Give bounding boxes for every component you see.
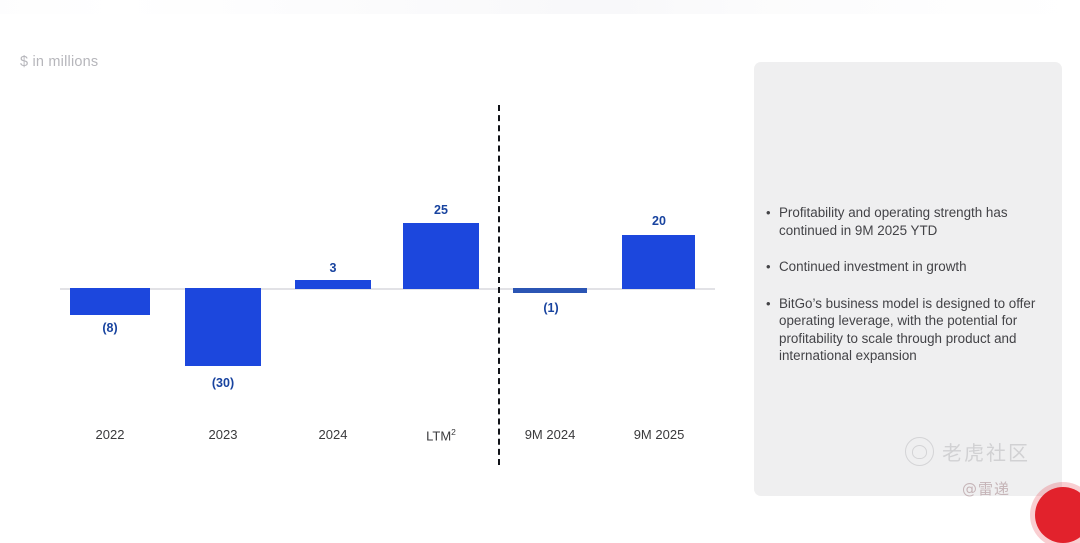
- red-badge-icon: [1035, 487, 1080, 543]
- commentary-bullet-list: • Profitability and operating strength h…: [766, 204, 1058, 384]
- watermark-handle: @雷递: [962, 478, 1010, 499]
- ltm-footnote-marker: 2: [451, 427, 456, 437]
- bullet-icon: •: [766, 295, 779, 365]
- bar-category-label-2023: 2023: [183, 427, 263, 442]
- category-text-ltm: LTM: [426, 428, 451, 443]
- bar-category-label-ltm: LTM2: [401, 427, 481, 443]
- bar-value-label-2024: 3: [293, 261, 373, 275]
- bullet-icon: •: [766, 258, 779, 276]
- list-item: • Profitability and operating strength h…: [766, 204, 1058, 239]
- bar-value-label-2022: (8): [70, 321, 150, 335]
- watermark: 老虎社区: [905, 437, 1030, 466]
- bar-category-label-9m-2025: 9M 2025: [619, 427, 699, 442]
- category-text-9m-2024: 9M 2024: [525, 427, 576, 442]
- bullet-icon: •: [766, 204, 779, 239]
- list-item: • Continued investment in growth: [766, 258, 1058, 276]
- bar-value-label-9m-2025: 20: [619, 214, 699, 228]
- bar-value-label-ltm: 25: [401, 203, 481, 217]
- category-text-9m-2025: 9M 2025: [634, 427, 685, 442]
- bar-9m-2025: [622, 235, 695, 289]
- bar-value-label-9m-2024: (1): [511, 301, 591, 315]
- category-text-2022: 2022: [96, 427, 125, 442]
- category-text-2024: 2024: [319, 427, 348, 442]
- list-item: • BitGo’s business model is designed to …: [766, 295, 1058, 365]
- bar-2023: [185, 288, 261, 366]
- bar-chart: (8) 2022 (30) 2023 3 2024 25 LTM2 (1) 9M…: [60, 95, 720, 465]
- bullet-text: Continued investment in growth: [779, 258, 1058, 276]
- watermark-brand: 老虎社区: [942, 437, 1030, 466]
- category-text-2023: 2023: [209, 427, 238, 442]
- bar-2024: [295, 280, 371, 289]
- chart-units-caption: $ in millions: [20, 54, 98, 70]
- slide-canvas: $ in millions (8) 2022 (30) 2023 3 2024 …: [0, 0, 1080, 520]
- bar-category-label-2024: 2024: [293, 427, 373, 442]
- bullet-text: Profitability and operating strength has…: [779, 204, 1058, 239]
- bar-2022: [70, 288, 150, 315]
- chart-baseline-axis: [60, 288, 715, 290]
- bar-ltm: [403, 223, 479, 289]
- top-residue-strip: [0, 0, 1080, 14]
- tiger-logo-icon: [905, 437, 934, 466]
- bar-value-label-2023: (30): [183, 376, 263, 390]
- bar-9m-2024: [513, 288, 587, 293]
- period-divider-dashed-line: [498, 105, 500, 465]
- bar-category-label-9m-2024: 9M 2024: [510, 427, 590, 442]
- bullet-text: BitGo’s business model is designed to of…: [779, 295, 1058, 365]
- bar-category-label-2022: 2022: [70, 427, 150, 442]
